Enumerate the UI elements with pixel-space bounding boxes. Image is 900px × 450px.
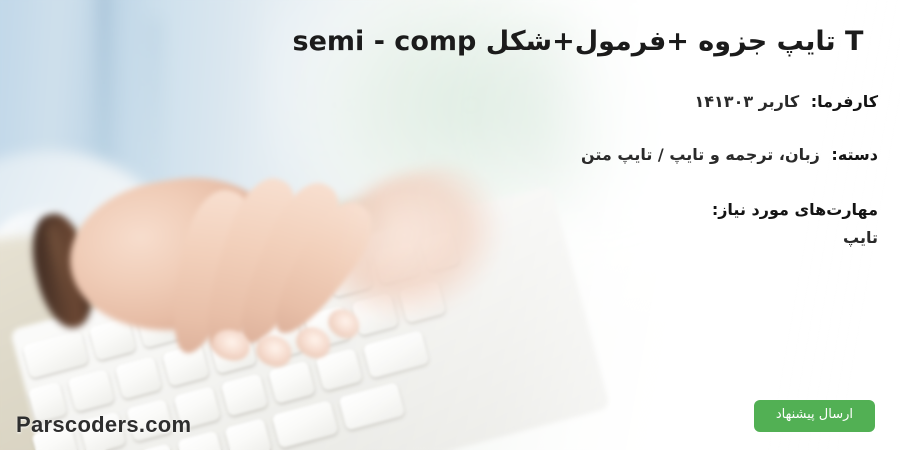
category-value[interactable]: زبان، ترجمه و تایپ / تایپ متن [581,145,826,164]
category-row: دسته: زبان، ترجمه و تایپ / تایپ متن [581,145,878,164]
skills-label: مهارت‌های مورد نیاز: [712,196,878,224]
submit-proposal-button[interactable]: ارسال پیشنهاد [754,400,875,432]
skills-row: مهارت‌های مورد نیاز: تایپ [712,196,878,252]
employer-value: کاربر ۱۴۱۳۰۳ [695,92,806,111]
banner-content: T تایپ جزوه +فرمول+شکل semi - comp کارفر… [0,0,900,450]
category-label: دسته: [831,145,878,164]
page-title: T تایپ جزوه +فرمول+شکل semi - comp [278,24,878,59]
skills-value: تایپ [712,224,878,252]
employer-row: کارفرما: کاربر ۱۴۱۳۰۳ [695,92,879,111]
project-banner: T تایپ جزوه +فرمول+شکل semi - comp کارفر… [0,0,900,450]
employer-label: کارفرما: [811,92,878,111]
site-watermark: Parscoders.com [16,412,191,438]
